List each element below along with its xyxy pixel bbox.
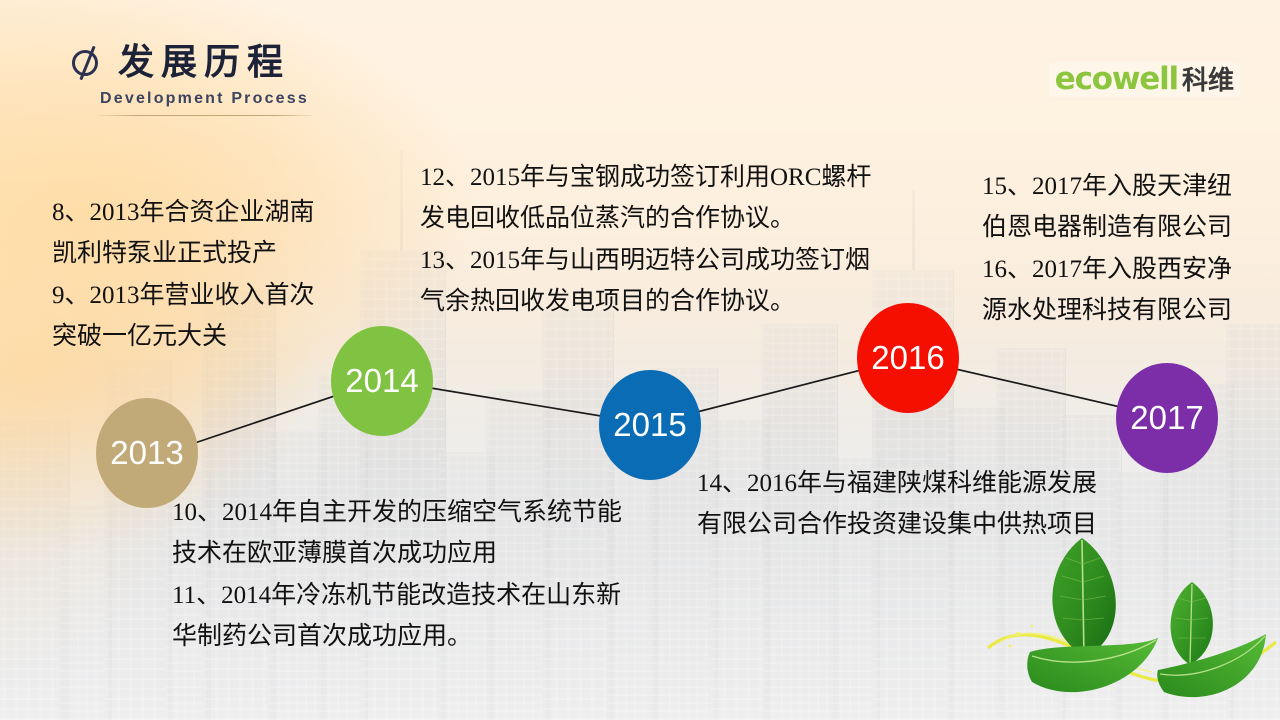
timeline-node-2015[interactable]: 2015 xyxy=(599,370,701,480)
content-block-2017: 15、2017年入股天津纽 伯恩电器制造有限公司 16、2017年入股西安净 源… xyxy=(982,166,1272,331)
oslash-logo-icon xyxy=(70,45,104,79)
page-header: 发展历程 Development Process xyxy=(70,44,313,116)
brand-logo-latin: ecowell xyxy=(1055,64,1178,95)
content-block-2016: 14、2016年与福建陕煤科维能源发展 有限公司合作投资建设集中供热项目 xyxy=(697,463,1167,546)
page-subtitle: Development Process xyxy=(100,90,313,108)
timeline-node-2013-label: 2013 xyxy=(110,434,183,472)
timeline-node-2015-label: 2015 xyxy=(613,406,686,444)
timeline-node-2016-label: 2016 xyxy=(871,339,944,377)
content-block-2015-top: 12、2015年与宝钢成功签订利用ORC螺杆 发电回收低品位蒸汽的合作协议。 1… xyxy=(420,157,950,322)
content-block-2013: 8、2013年合资企业湖南 凯利特泵业正式投产 9、2013年营业收入首次 突破… xyxy=(52,192,382,357)
brand-logo: ecowell 科维 xyxy=(1049,62,1240,97)
slide-canvas: 发展历程 Development Process ecowell 科维 2013… xyxy=(0,0,1280,720)
content-block-2014: 10、2014年自主开发的压缩空气系统节能 技术在欧亚薄膜首次成功应用 11、2… xyxy=(172,492,702,657)
timeline-node-2017-label: 2017 xyxy=(1130,399,1203,437)
title-divider xyxy=(98,115,313,116)
brand-logo-cn: 科维 xyxy=(1182,67,1234,93)
page-title: 发展历程 xyxy=(118,44,290,80)
timeline-node-2014-label: 2014 xyxy=(345,362,418,400)
green-leaves-icon xyxy=(980,530,1280,720)
timeline-node-2017[interactable]: 2017 xyxy=(1116,363,1218,473)
